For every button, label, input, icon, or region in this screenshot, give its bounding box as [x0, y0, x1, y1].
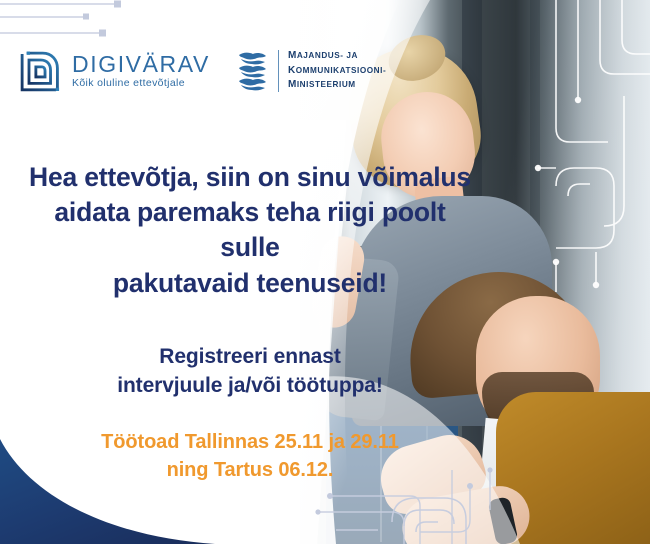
subhead-line-2: intervjuule ja/või töötuppa! — [22, 372, 478, 401]
digivarav-logo[interactable]: DIGIVÄRAV Kõik oluline ettevõtjale — [18, 48, 210, 94]
ministry-line-3: MINISTEERIUM — [288, 79, 386, 92]
ministry-line-2: KOMMUNIKATSIOONI- — [288, 65, 386, 78]
headline-line-1: Hea ettevõtja, siin on sinu võimalus — [22, 160, 478, 195]
dates-line-1: Töötoad Tallinnas 25.11 ja 29.11 — [22, 428, 478, 456]
headline: Hea ettevõtja, siin on sinu võimalus aid… — [0, 160, 500, 301]
estonian-coat-of-arms-icon — [236, 50, 269, 92]
headline-line-3: pakutavaid teenuseid! — [22, 266, 478, 301]
poster-copy: Hea ettevõtja, siin on sinu võimalus aid… — [0, 160, 500, 484]
ministry-name: MAJANDUS- JA KOMMUNIKATSIOONI- MINISTEER… — [288, 50, 386, 92]
spacer — [0, 301, 500, 343]
subhead-line-1: Registreeri ennast — [22, 343, 478, 372]
spacer — [0, 400, 500, 428]
divider — [278, 50, 279, 92]
digivarav-wordmark: DIGIVÄRAV Kõik oluline ettevõtjale — [72, 53, 210, 89]
top-left-circuit-lines — [0, 4, 116, 33]
subheadline: Registreeri ennast intervjuule ja/või tö… — [0, 343, 500, 401]
headline-line-2: aidata paremaks teha riigi poolt sulle — [22, 195, 478, 265]
circuit-node-icon — [83, 1, 121, 37]
logo-tagline: Kõik oluline ettevõtjale — [72, 78, 210, 89]
ministry-logo[interactable]: MAJANDUS- JA KOMMUNIKATSIOONI- MINISTEER… — [236, 50, 386, 92]
ministry-line-1: MAJANDUS- JA — [288, 50, 386, 63]
workshop-dates: Töötoad Tallinnas 25.11 ja 29.11 ning Ta… — [0, 428, 500, 484]
logo-name: DIGIVÄRAV — [72, 53, 210, 76]
promotional-poster: DIGIVÄRAV Kõik oluline ettevõtjale — [0, 0, 650, 544]
digivarav-spiral-logo-icon — [18, 48, 62, 94]
header: DIGIVÄRAV Kõik oluline ettevõtjale — [18, 48, 386, 94]
dates-line-2: ning Tartus 06.12. — [22, 456, 478, 484]
